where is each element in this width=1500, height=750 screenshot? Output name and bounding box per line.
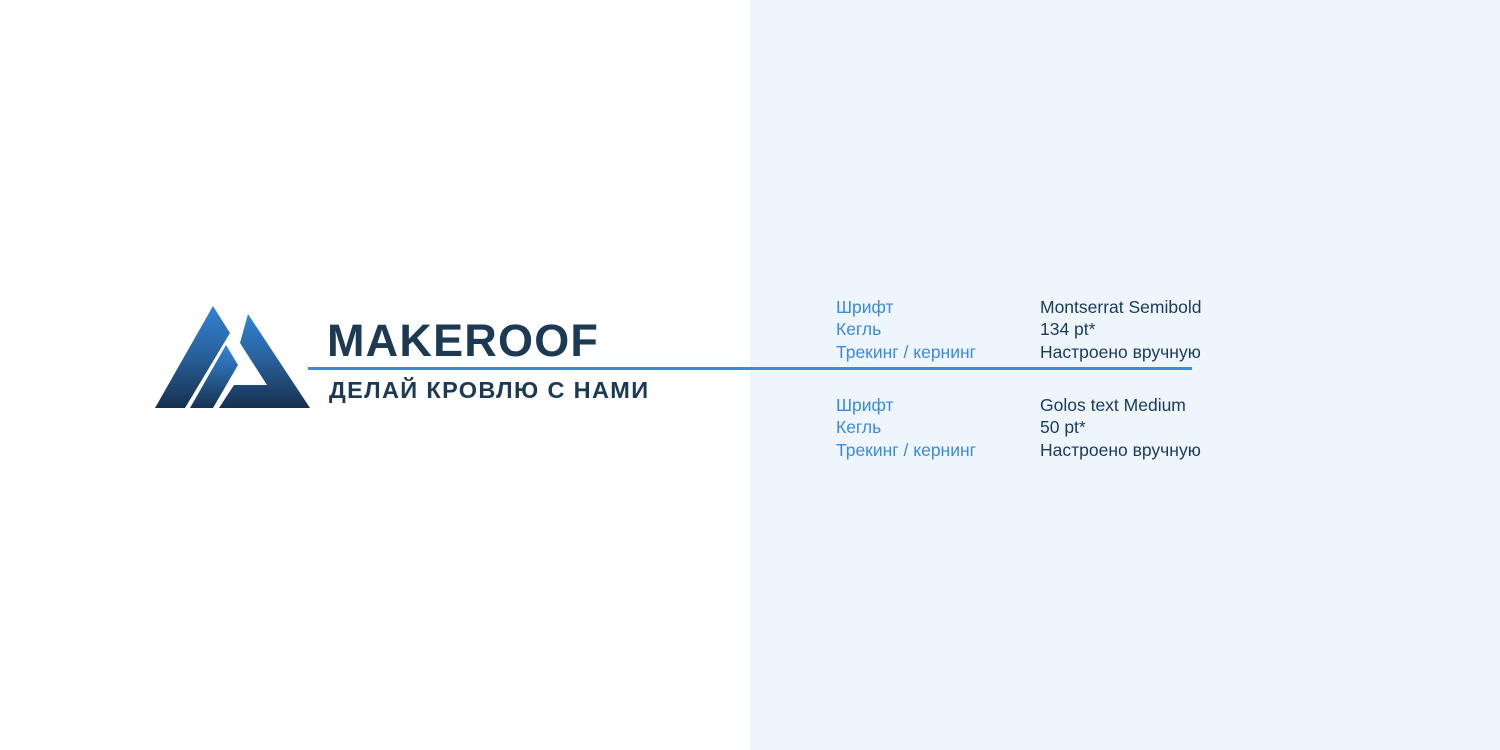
spec-value-font: Montserrat Semibold bbox=[1040, 296, 1201, 318]
wordmark-spec-block: Шрифт Montserrat Semibold Кегль 134 pt* … bbox=[836, 296, 1201, 363]
spec-value-size: 134 pt* bbox=[1040, 318, 1095, 340]
spec-value-size: 50 pt* bbox=[1040, 416, 1086, 438]
brand-guideline-page: MAKEROOF ДЕЛАЙ КРОВЛЮ С НАМИ Шрифт Monts… bbox=[0, 0, 1500, 750]
spec-row: Трекинг / кернинг Настроено вручную bbox=[836, 439, 1201, 461]
logo-tagline: ДЕЛАЙ КРОВЛЮ С НАМИ bbox=[329, 379, 649, 403]
spec-label-size: Кегль bbox=[836, 416, 1040, 438]
spec-value-font: Golos text Medium bbox=[1040, 394, 1186, 416]
spec-label-tracking: Трекинг / кернинг bbox=[836, 341, 1040, 363]
logo-wordmark: MAKEROOF bbox=[327, 318, 599, 363]
spec-label-font: Шрифт bbox=[836, 394, 1040, 416]
spec-label-size: Кегль bbox=[836, 318, 1040, 340]
spec-value-tracking: Настроено вручную bbox=[1040, 341, 1201, 363]
right-panel bbox=[750, 0, 1500, 750]
makeroof-triangle-mark-icon bbox=[155, 305, 310, 409]
spec-row: Шрифт Golos text Medium bbox=[836, 394, 1201, 416]
spec-label-tracking: Трекинг / кернинг bbox=[836, 439, 1040, 461]
spec-row: Шрифт Montserrat Semibold bbox=[836, 296, 1201, 318]
spec-value-tracking: Настроено вручную bbox=[1040, 439, 1201, 461]
spec-label-font: Шрифт bbox=[836, 296, 1040, 318]
spec-row: Кегль 134 pt* bbox=[836, 318, 1201, 340]
tagline-spec-block: Шрифт Golos text Medium Кегль 50 pt* Тре… bbox=[836, 394, 1201, 461]
spec-row: Кегль 50 pt* bbox=[836, 416, 1201, 438]
spec-row: Трекинг / кернинг Настроено вручную bbox=[836, 341, 1201, 363]
logo-text-block: MAKEROOF ДЕЛАЙ КРОВЛЮ С НАМИ bbox=[327, 303, 677, 409]
logo-lockup: MAKEROOF ДЕЛАЙ КРОВЛЮ С НАМИ bbox=[155, 303, 675, 411]
